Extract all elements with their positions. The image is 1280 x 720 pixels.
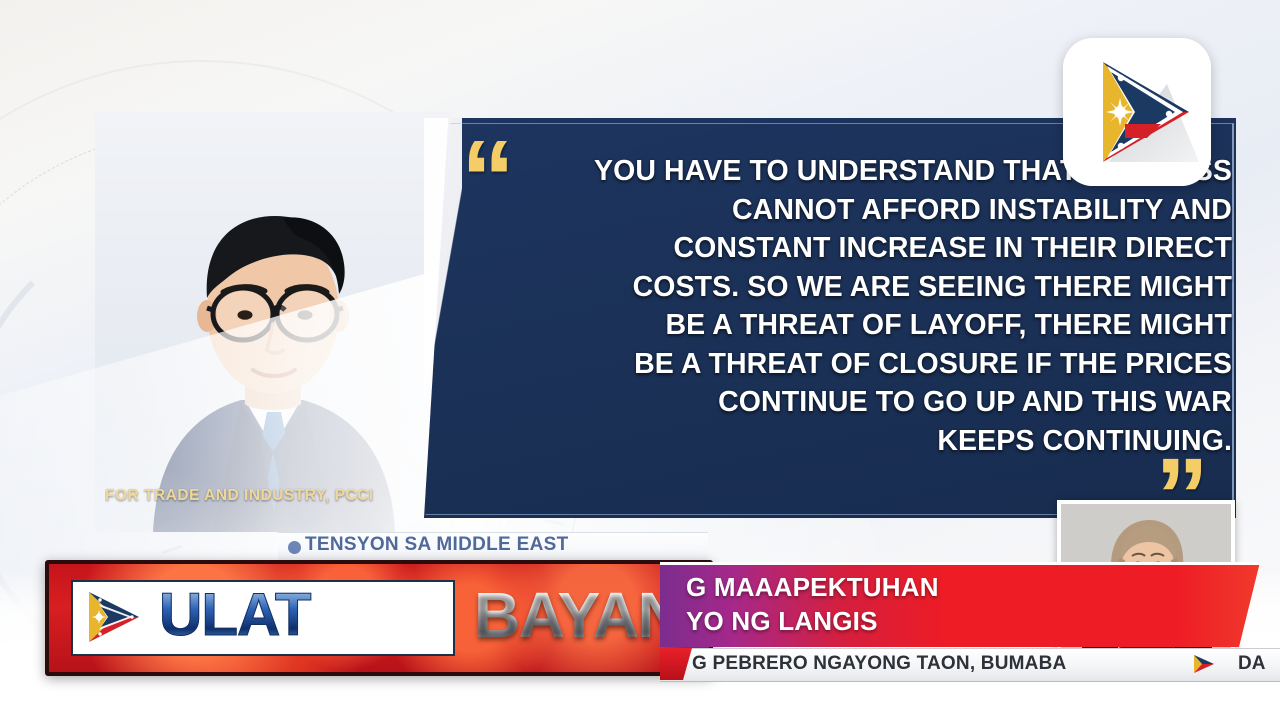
speaker-portrait-art: [95, 112, 450, 532]
headline-text: G MAAAPEKTUHANYO NG LANGIS: [686, 570, 1246, 638]
ticker-text: G PEBRERO NGAYONG TAON, BUMABA: [692, 653, 1066, 675]
play-triangle-icon: [1190, 652, 1218, 676]
philippine-flag-triangle-seal-icon: [85, 588, 143, 646]
broadcast-frame: “ YOU HAVE TO UNDERSTAND THAT BUSINESS C…: [0, 0, 1280, 720]
program-logo-word-bayan: BAYAN: [474, 582, 682, 648]
program-logo-word-ulat: ULAT: [159, 584, 311, 646]
topic-label: TENSYON SA MIDDLE EAST: [305, 534, 568, 556]
speaker-portrait: [95, 112, 450, 532]
headline-line-1: G MAAAPEKTUHAN: [686, 572, 939, 602]
headline-line-2: YO NG LANGIS: [686, 606, 878, 636]
attribution-line: FOR TRADE AND INDUSTRY, PCCI: [105, 487, 575, 505]
ptv-network-bug: [1063, 38, 1211, 186]
program-logo: ULAT BAYAN: [45, 560, 713, 676]
quote-text: YOU HAVE TO UNDERSTAND THAT BUSINESS CAN…: [476, 152, 1232, 460]
ticker-text-secondary: DA: [1238, 653, 1265, 675]
ptv-logo-icon: [1063, 38, 1211, 186]
topic-bullet-icon: [288, 541, 301, 554]
